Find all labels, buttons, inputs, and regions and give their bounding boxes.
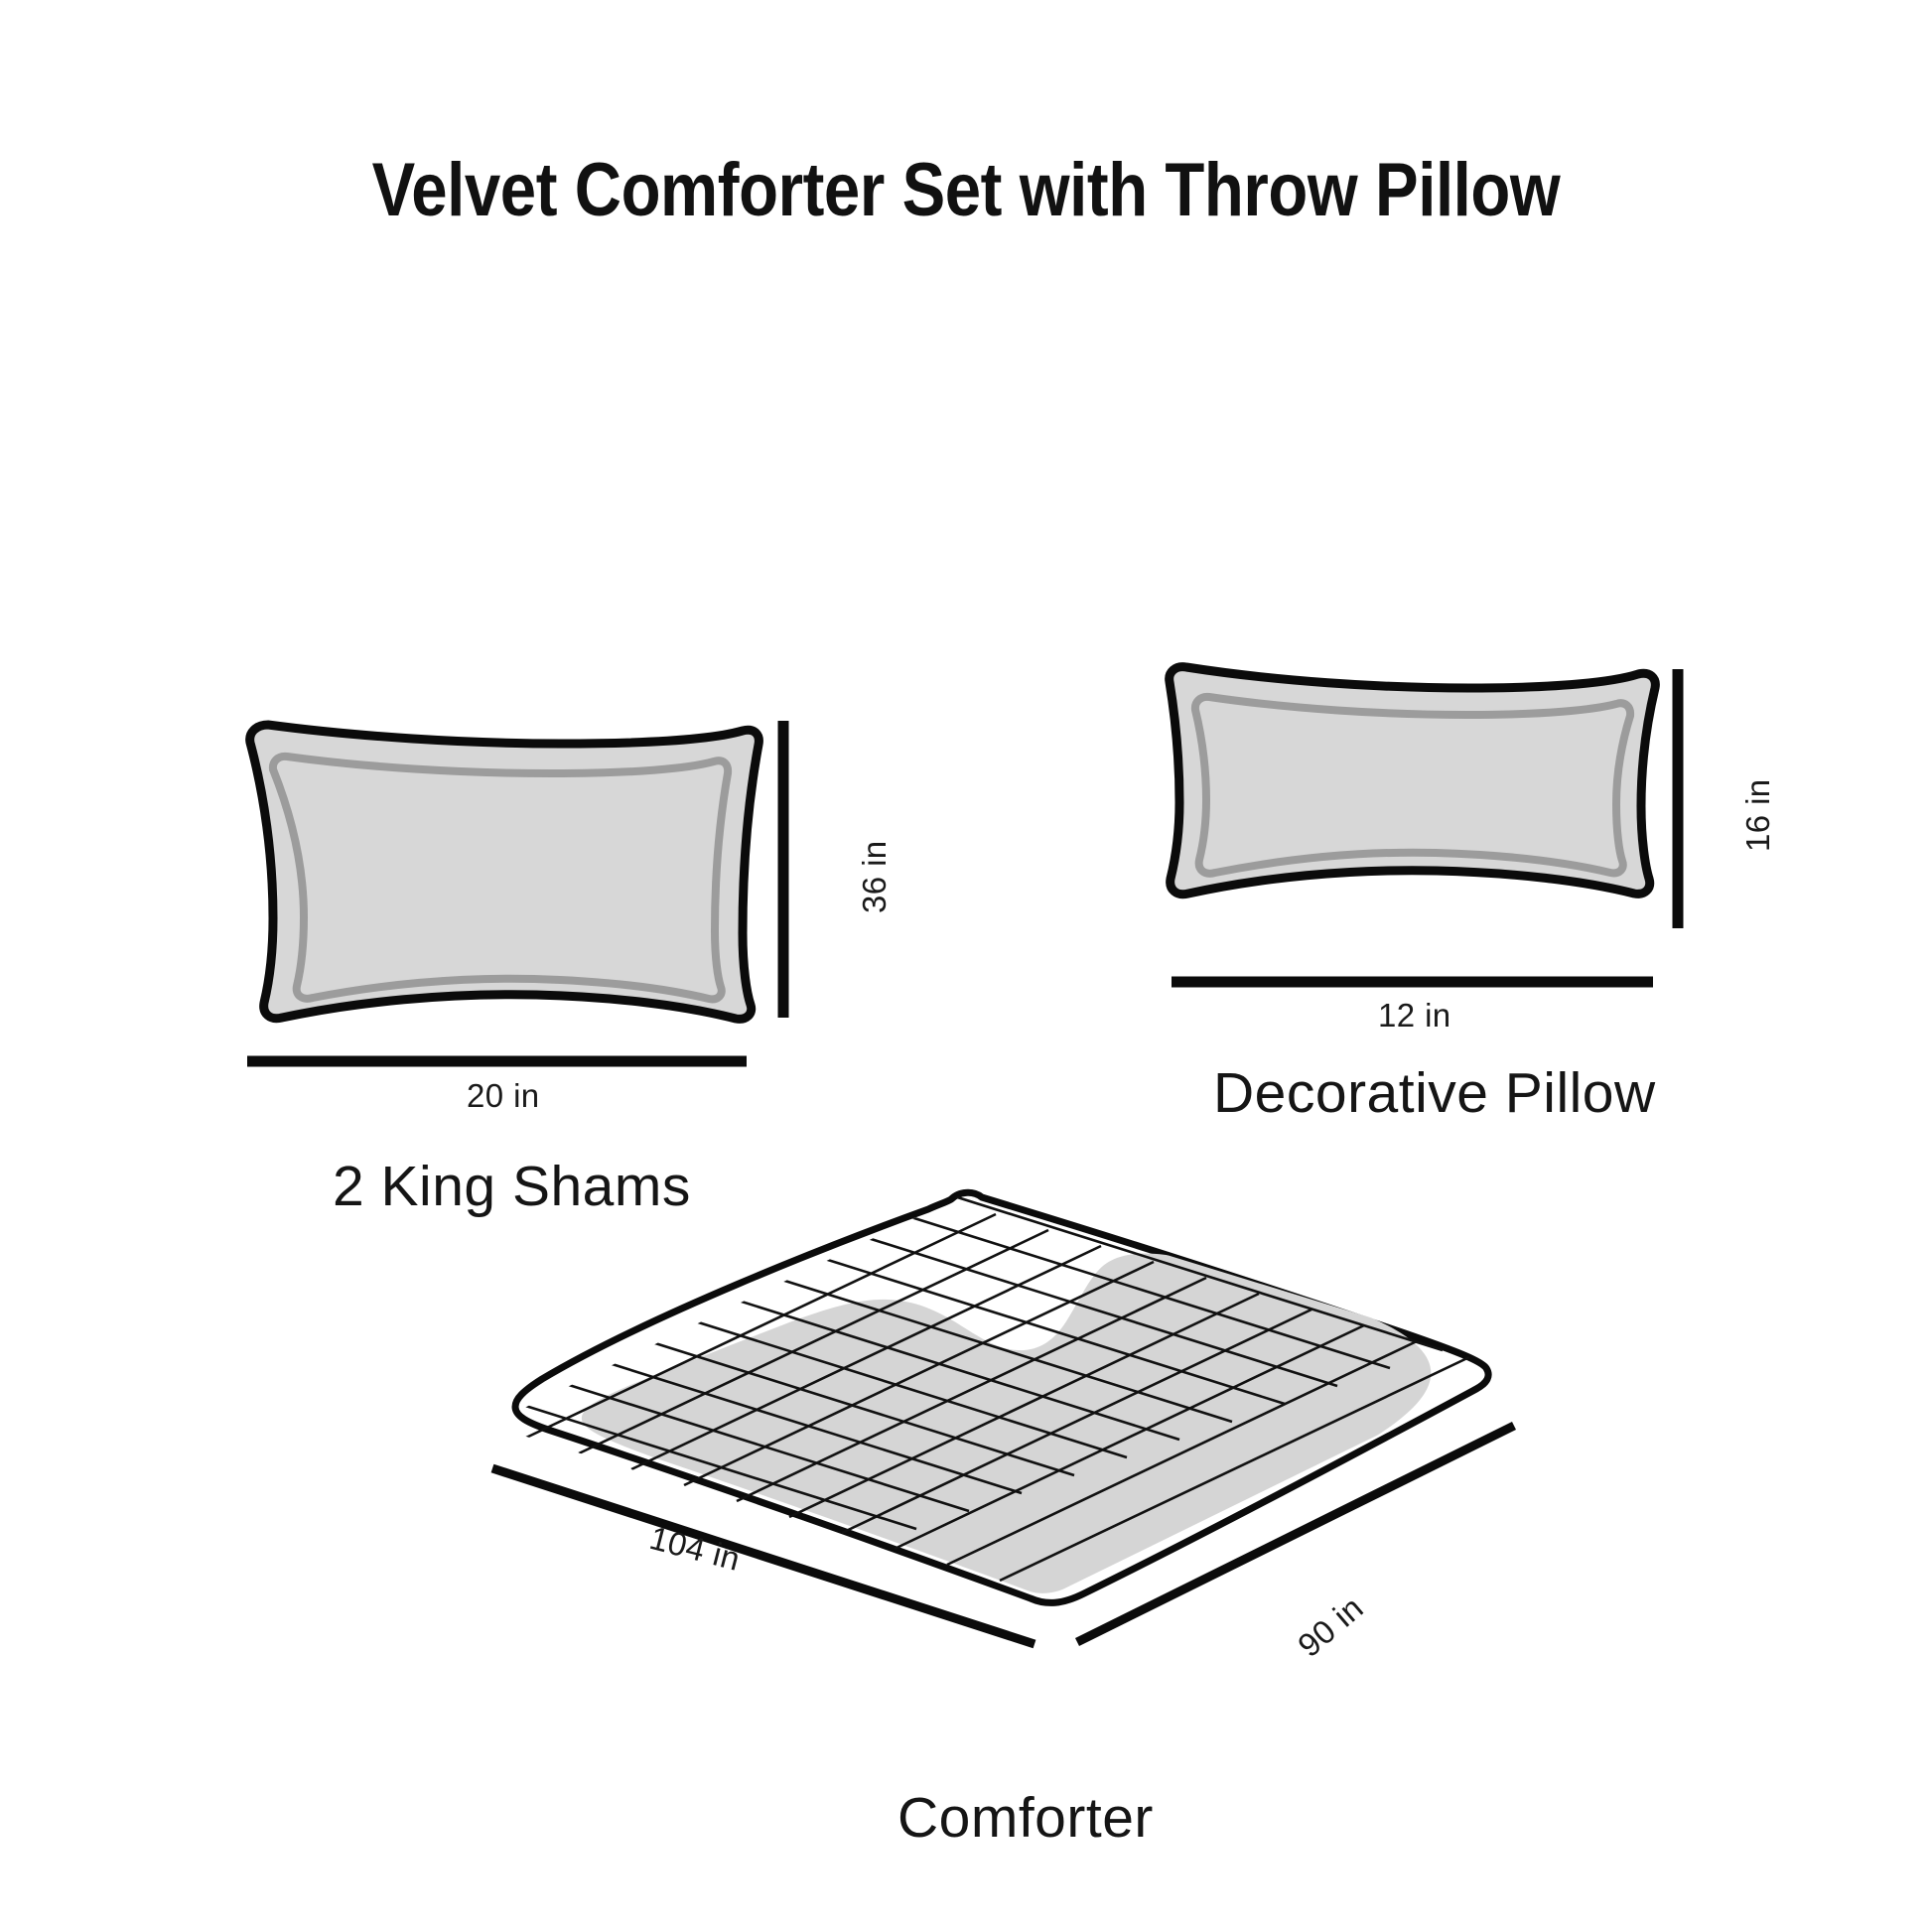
comforter-illustration — [0, 0, 1932, 1932]
product-dimensions-diagram: Velvet Comforter Set with Throw Pillow 3… — [0, 0, 1932, 1932]
comforter-caption: Comforter — [897, 1785, 1154, 1851]
